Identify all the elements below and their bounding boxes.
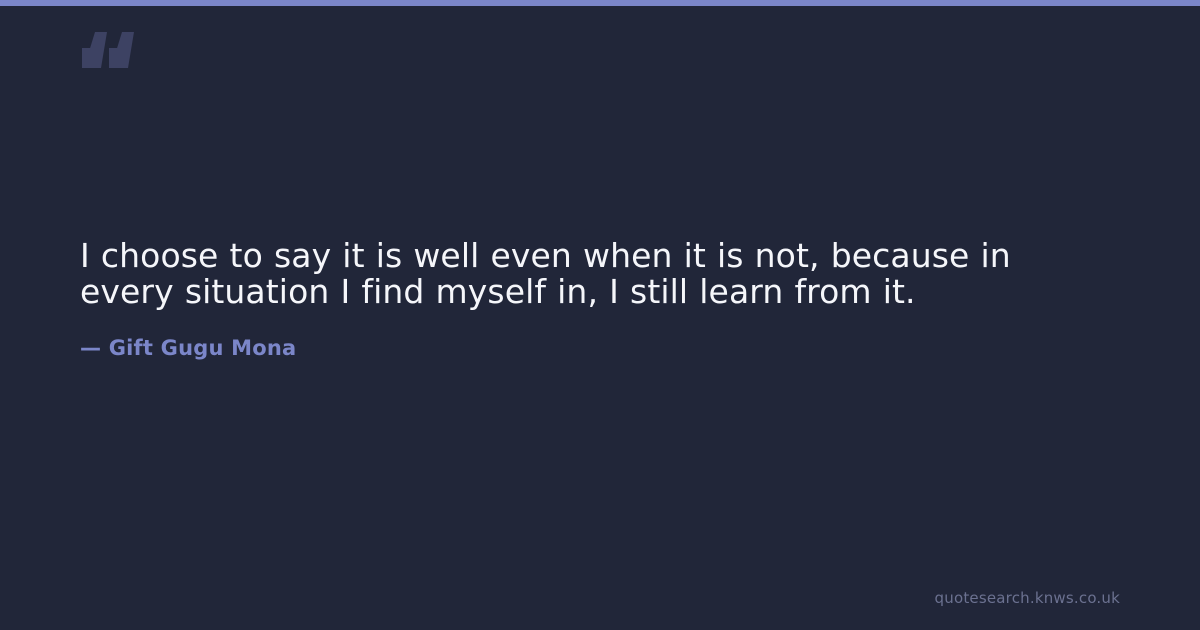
top-accent-bar	[0, 0, 1200, 6]
quote-text: I choose to say it is well even when it …	[80, 238, 1090, 310]
quote-author: — Gift Gugu Mona	[80, 310, 1090, 361]
source-watermark: quotesearch.knws.co.uk	[935, 588, 1120, 608]
double-quotation-mark-icon	[80, 30, 140, 86]
quote-content: I choose to say it is well even when it …	[80, 238, 1090, 361]
quote-card: I choose to say it is well even when it …	[0, 0, 1200, 630]
